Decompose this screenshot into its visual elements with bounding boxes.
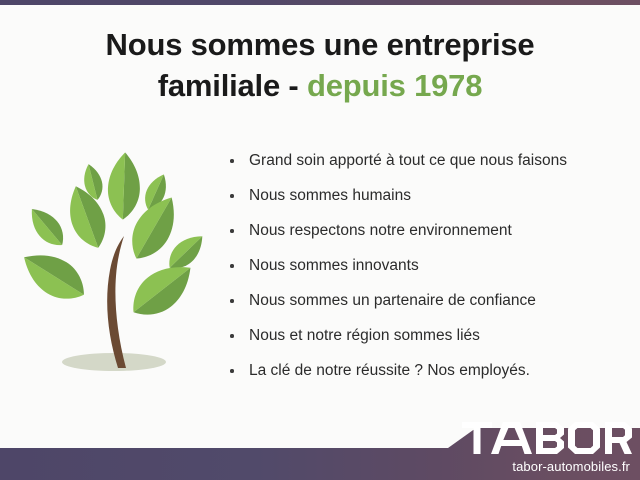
list-item-label: Nous sommes un partenaire de confiance — [249, 292, 536, 309]
list-item-label: Nous respectons notre environnement — [249, 222, 512, 239]
value-list: Grand soin apporté à tout ce que nous fa… — [228, 150, 628, 382]
list-item: Nous sommes humains — [228, 185, 628, 207]
brand-logo — [462, 422, 632, 454]
list-item-label: Nous sommes innovants — [249, 257, 419, 274]
top-accent-strip — [0, 0, 640, 5]
list-item-label: Grand soin apporté à tout ce que nous fa… — [249, 152, 567, 169]
tree-shadow — [62, 353, 166, 371]
brand-bar: tabor-automobiles.fr — [0, 412, 640, 480]
bullet-dot-icon — [230, 299, 234, 303]
bullet-dot-icon — [230, 334, 234, 338]
list-item: Nous et notre région sommes liés — [228, 325, 628, 347]
brand-url: tabor-automobiles.fr — [512, 459, 630, 474]
headline-since-accent: depuis 1978 — [307, 68, 482, 103]
tree-illustration — [14, 148, 214, 388]
headline-line-1: Nous sommes une entreprise — [0, 24, 640, 65]
list-item-label: Nous sommes humains — [249, 187, 411, 204]
list-item-label: Nous et notre région sommes liés — [249, 327, 480, 344]
bullet-dot-icon — [230, 194, 234, 198]
list-item: Nous sommes un partenaire de confiance — [228, 290, 628, 312]
page-title: Nous sommes une entreprise familiale - d… — [0, 24, 640, 106]
bullet-dot-icon — [230, 369, 234, 373]
tree-trunk — [107, 236, 126, 368]
list-item: Nous respectons notre environnement — [228, 220, 628, 242]
list-item: Nous sommes innovants — [228, 255, 628, 277]
headline-line-2: familiale - depuis 1978 — [0, 65, 640, 106]
list-item-label: La clé de notre réussite ? Nos employés. — [249, 362, 530, 379]
headline-line-2-main: familiale - — [158, 68, 307, 103]
bullet-dot-icon — [230, 159, 234, 163]
bullet-dot-icon — [230, 229, 234, 233]
bullet-dot-icon — [230, 264, 234, 268]
list-item: Grand soin apporté à tout ce que nous fa… — [228, 150, 628, 172]
list-item: La clé de notre réussite ? Nos employés. — [228, 360, 628, 382]
